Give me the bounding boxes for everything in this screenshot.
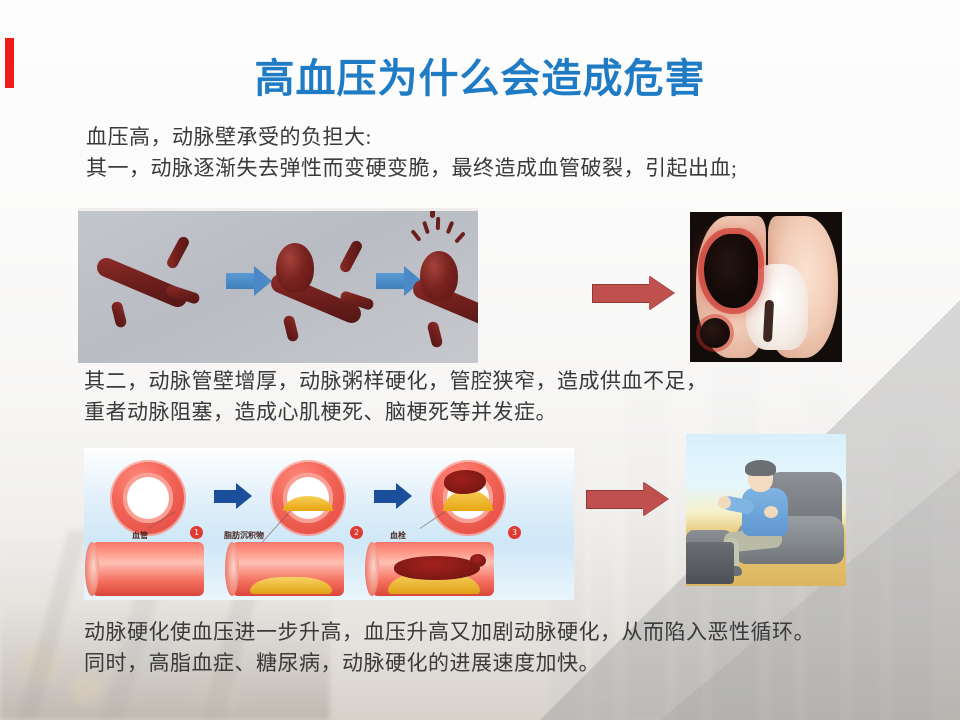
vessel-tube-opening	[85, 542, 99, 596]
television-set	[686, 542, 734, 584]
blue-arrow-icon	[214, 490, 238, 503]
thrombus-clot	[394, 556, 480, 580]
blood-spurt	[422, 221, 430, 235]
patient-hand-on-chest	[764, 506, 778, 518]
transition-arrow-icon	[586, 490, 643, 509]
aneurysm-sac	[276, 243, 314, 293]
slide-root: 高血压为什么会造成危害 血压高，动脉壁承受的负担大: 其一，动脉逐渐失去弹性而变…	[0, 0, 960, 720]
athero-label-clot: 血栓	[390, 530, 406, 541]
vessel-cross-section-normal	[110, 460, 186, 536]
second-paragraph: 其二，动脉管壁增厚，动脉粥样硬化，管腔狭窄，造成供血不足， 重者动脉阻塞，造成心…	[84, 366, 708, 428]
conclusion-paragraph: 动脉硬化使血压进一步升高，血压升高又加剧动脉硬化，从而陷入恶性循环。 同时，高脂…	[84, 617, 815, 679]
blood-spurt	[430, 209, 435, 218]
patient-hair	[745, 460, 776, 476]
blood-spurt	[436, 217, 440, 230]
athero-badge-3: 3	[508, 526, 521, 539]
vessel-tube-thrombus	[372, 542, 494, 596]
athero-label-vessel: 血管	[132, 530, 148, 541]
plaque-deposit	[250, 577, 332, 594]
hemorrhage-region-secondary	[700, 318, 730, 348]
blue-arrow-icon	[374, 490, 398, 503]
artery-branch	[283, 315, 300, 343]
page-title: 高血压为什么会造成危害	[0, 46, 960, 104]
patient-hand	[718, 496, 731, 509]
vessel-tube-plaque	[232, 542, 344, 596]
athero-badge-2: 2	[350, 526, 363, 539]
blood-spurt	[410, 229, 421, 242]
blue-arrow-icon	[376, 273, 406, 289]
aneurysm-figure	[78, 208, 478, 363]
aneurysm-sac-ruptured	[420, 251, 458, 301]
transition-arrow-icon	[592, 284, 649, 303]
blood-spurt	[446, 221, 455, 235]
artery-branch	[111, 301, 128, 329]
intro-paragraph: 血压高，动脉壁承受的负担大: 其一，动脉逐渐失去弹性而变硬变脆，最终造成血管破裂…	[86, 122, 737, 184]
vessel-tube-opening	[225, 542, 239, 596]
artery-branch	[427, 321, 444, 349]
atherosclerosis-figure: 血管 1 脂肪沉积物 2 血栓 3	[84, 448, 574, 600]
blood-spurt	[454, 231, 466, 243]
hemorrhage-region	[704, 234, 758, 308]
vessel-tube-opening	[365, 542, 379, 596]
thrombus-fragment	[470, 554, 486, 567]
vessel-tube-normal	[92, 542, 204, 596]
athero-badge-1: 1	[190, 526, 203, 539]
artery-branch	[165, 235, 191, 270]
artery-branch	[338, 239, 364, 274]
blue-arrow-icon	[226, 273, 256, 289]
brain-hemorrhage-figure	[690, 212, 842, 362]
patient-figure	[686, 434, 846, 586]
athero-label-plaque: 脂肪沉积物	[224, 530, 264, 541]
